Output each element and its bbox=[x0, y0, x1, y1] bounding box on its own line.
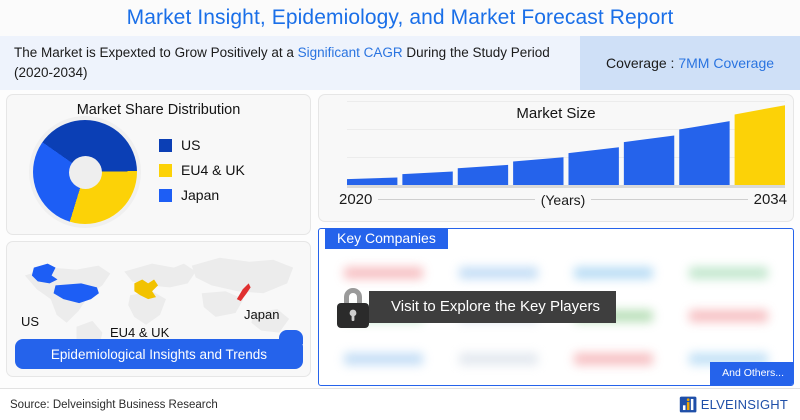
right-column: Market Size 2020 (Years) 2034 Key Compan… bbox=[318, 94, 794, 386]
market-size-card: Market Size 2020 (Years) 2034 bbox=[318, 94, 794, 222]
delveinsight-wordmark: DELVEINSIGHT bbox=[701, 398, 788, 411]
eu-uk-shape bbox=[134, 279, 158, 299]
page-title: Market Insight, Epidemiology, and Market… bbox=[127, 6, 674, 30]
axis-end-year: 2034 bbox=[754, 191, 787, 208]
chart-axis-line bbox=[347, 185, 785, 188]
and-others-button[interactable]: And Others... bbox=[710, 362, 793, 385]
legend-swatch-icon bbox=[159, 139, 172, 152]
donut-hole bbox=[69, 156, 102, 189]
locked-content-label: Visit to Explore the Key Players bbox=[369, 291, 616, 323]
map-label-japan: Japan bbox=[244, 307, 279, 322]
coverage-label: Coverage : bbox=[606, 55, 678, 71]
epidemiology-banner-label: Epidemiological Insights and Trends bbox=[51, 347, 267, 362]
header-bar: Market Insight, Epidemiology, and Market… bbox=[0, 0, 800, 36]
axis-label-years: (Years) bbox=[541, 192, 586, 208]
company-logo-mark bbox=[459, 267, 537, 279]
market-size-bar bbox=[735, 105, 785, 185]
company-logo bbox=[559, 340, 668, 379]
axis-start-year: 2020 bbox=[339, 191, 372, 208]
body-region: Market Share Distribution USEU4 & UKJapa… bbox=[0, 90, 800, 386]
market-share-card: Market Share Distribution USEU4 & UKJapa… bbox=[6, 94, 311, 235]
brand-name: ELVEINSIGHT bbox=[701, 397, 788, 412]
legend-label: Japan bbox=[181, 187, 219, 203]
market-size-bars bbox=[347, 101, 785, 185]
legend-swatch-icon bbox=[159, 164, 172, 177]
legend-label: EU4 & UK bbox=[181, 162, 245, 178]
lock-icon bbox=[331, 284, 375, 330]
market-share-body: USEU4 & UKJapan bbox=[7, 120, 310, 224]
subtitle-highlight: Significant CAGR bbox=[298, 45, 403, 60]
report-infographic: Market Insight, Epidemiology, and Market… bbox=[0, 0, 800, 420]
subtitle-part1: The Market is Expexted to Grow Positivel… bbox=[14, 45, 298, 60]
subtitle-panel: The Market is Expexted to Grow Positivel… bbox=[0, 36, 580, 90]
company-logo-mark bbox=[574, 353, 652, 365]
source-text: Source: Delveinsight Business Research bbox=[10, 399, 218, 411]
geography-card: US EU4 & UK Japan Epidemiological Insigh… bbox=[6, 241, 311, 377]
axis-rule-right bbox=[591, 199, 747, 200]
legend-label: US bbox=[181, 137, 200, 153]
coverage-panel: Coverage : 7MM Coverage bbox=[580, 36, 800, 90]
market-size-bar bbox=[513, 157, 563, 185]
market-size-bar bbox=[679, 121, 729, 185]
subtitle-text: The Market is Expexted to Grow Positivel… bbox=[14, 43, 570, 82]
market-size-bar bbox=[402, 172, 452, 185]
legend-swatch-icon bbox=[159, 189, 172, 202]
market-size-bar bbox=[458, 165, 508, 185]
us-shape bbox=[32, 264, 99, 303]
company-logo bbox=[329, 340, 438, 379]
company-logo-mark bbox=[344, 267, 422, 279]
axis-rule-left bbox=[378, 199, 534, 200]
delveinsight-logo: DELVEINSIGHT bbox=[679, 395, 788, 414]
epidemiology-banner[interactable]: Epidemiological Insights and Trends bbox=[15, 339, 303, 369]
subtitle-row: The Market is Expexted to Grow Positivel… bbox=[0, 36, 800, 90]
market-share-donut-chart bbox=[33, 120, 137, 224]
key-companies-card: Key Companies Visit to Explore the Key P… bbox=[318, 228, 794, 386]
map-label-us: US bbox=[21, 314, 39, 329]
company-logo-mark bbox=[344, 353, 422, 365]
market-share-title: Market Share Distribution bbox=[7, 102, 310, 118]
company-logo bbox=[444, 340, 553, 379]
locked-content-overlay[interactable]: Visit to Explore the Key Players bbox=[331, 284, 793, 330]
map-label-eu-uk: EU4 & UK bbox=[110, 325, 169, 340]
company-logo-mark bbox=[459, 353, 537, 365]
legend-item: EU4 & UK bbox=[159, 162, 245, 178]
market-size-bar bbox=[347, 177, 397, 185]
coverage-text: Coverage : 7MM Coverage bbox=[606, 55, 774, 71]
left-column: Market Share Distribution USEU4 & UKJapa… bbox=[6, 94, 311, 386]
market-size-bar bbox=[624, 135, 674, 185]
japan-shape bbox=[237, 283, 251, 301]
market-share-legend: USEU4 & UKJapan bbox=[159, 137, 245, 207]
coverage-value: 7MM Coverage bbox=[678, 55, 774, 71]
chart-axis-labels: 2020 (Years) 2034 bbox=[339, 191, 787, 208]
legend-item: US bbox=[159, 137, 245, 153]
delveinsight-mark-icon bbox=[679, 395, 698, 414]
company-logo-mark bbox=[574, 267, 652, 279]
legend-item: Japan bbox=[159, 187, 245, 203]
footer-bar: Source: Delveinsight Business Research D… bbox=[0, 388, 800, 420]
key-companies-tag: Key Companies bbox=[325, 228, 448, 249]
market-size-bar bbox=[568, 147, 618, 185]
company-logo-mark bbox=[689, 267, 767, 279]
